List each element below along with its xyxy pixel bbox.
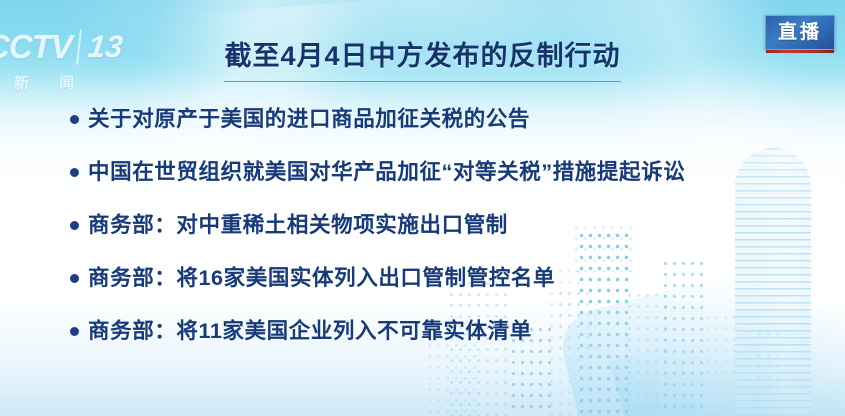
list-item: 商务部：将11家美国企业列入不可靠实体清单 [70,316,825,369]
page-title: 截至4月4日中方发布的反制行动 [224,42,620,82]
list-item-label: 商务部：对中重稀土相关物项实施出口管制 [88,210,508,240]
list-item: 商务部：将16家美国实体列入出口管制管控名单 [70,263,825,316]
list-item-label: 商务部：将16家美国实体列入出口管制管控名单 [88,263,555,293]
list-item: 商务部：对中重稀土相关物项实施出口管制 [70,210,825,263]
list-item-label: 关于对原产于美国的进口商品加征关税的公告 [88,104,530,134]
bullet-dot-icon [70,168,79,177]
live-badge-label: 直播 [778,23,822,42]
title-container: 截至4月4日中方发布的反制行动 [0,42,845,82]
action-list: 关于对原产于美国的进口商品加征关税的公告 中国在世贸组织就美国对华产品加征“对等… [70,104,825,369]
bullet-dot-icon [70,221,79,230]
broadcast-graphic-screen: CCTV 13 新 闻 直播 截至4月4日中方发布的反制行动 关于对原产于美国的… [0,0,845,416]
list-item: 中国在世贸组织就美国对华产品加征“对等关税”措施提起诉讼 [70,157,825,210]
list-item-label: 中国在世贸组织就美国对华产品加征“对等关税”措施提起诉讼 [88,157,685,187]
bullet-dot-icon [70,115,79,124]
list-item: 关于对原产于美国的进口商品加征关税的公告 [70,104,825,157]
bullet-dot-icon [70,274,79,283]
bullet-dot-icon [70,327,79,336]
list-item-label: 商务部：将11家美国企业列入不可靠实体清单 [88,316,532,346]
